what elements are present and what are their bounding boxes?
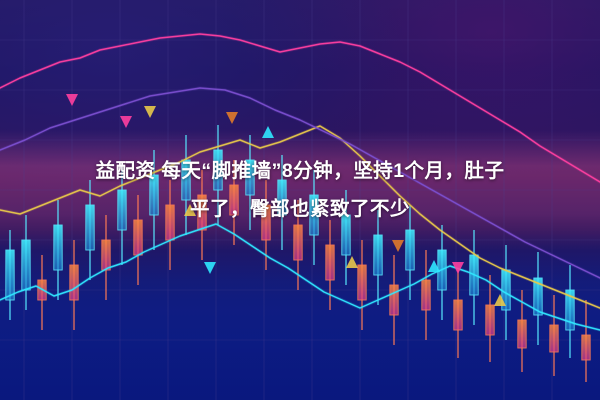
image-canvas: 益配资 每天“脚推墙”8分钟，坚持1个月，肚子 平了，臀部也紧致了不少 [0,0,600,400]
caption-line-1: 益配资 每天“脚推墙”8分钟，坚持1个月，肚子 [14,152,586,190]
caption-line-2: 平了，臀部也紧致了不少 [14,190,586,228]
overlay-caption: 益配资 每天“脚推墙”8分钟，坚持1个月，肚子 平了，臀部也紧致了不少 [0,152,600,228]
